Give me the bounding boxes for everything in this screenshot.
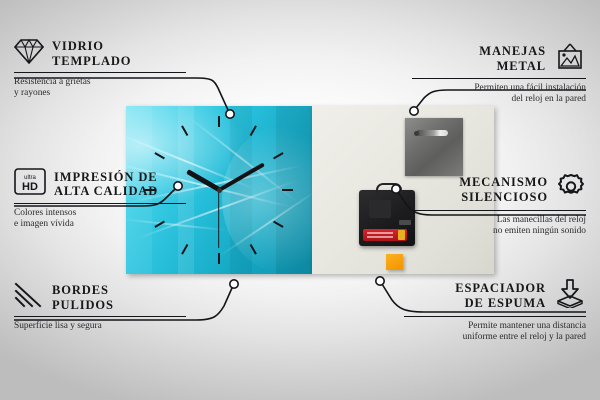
foam-spacer-piece (386, 254, 403, 270)
gear-icon (556, 172, 586, 207)
callout-title-line2: DE ESPUMA (455, 296, 546, 311)
callout-title-line1: MANEJAS (479, 44, 546, 59)
callout-desc-line1: Superficie lisa y segura (14, 321, 186, 332)
callout-polished-edges: BORDES PULIDOS Superficie lisa y segura (14, 282, 186, 332)
callout-foam-spacer: ESPACIADOR DE ESPUMA Permite mantener un… (404, 278, 586, 344)
callout-rule (412, 78, 586, 79)
callout-metal-handles: MANEJAS METAL Permiten una fácil instala… (412, 42, 586, 106)
quartz-mechanism (359, 190, 415, 246)
callout-desc-line2: y rayones (14, 88, 186, 99)
callout-desc-line1: Las manecillas del reloj (412, 215, 586, 226)
callout-desc-line1: Colores intensos (14, 208, 186, 219)
callout-title-line1: VIDRIO (52, 39, 131, 54)
diamond-icon (14, 38, 44, 69)
callout-rule (412, 210, 586, 211)
callout-rule (14, 72, 186, 73)
callout-desc-line2: del reloj en la pared (412, 94, 586, 105)
callout-title-line1: IMPRESIÓN DE (54, 170, 158, 185)
callout-desc-line2: e imagen vívida (14, 219, 186, 230)
callout-desc-line1: Resistencia a grietas (14, 77, 186, 88)
battery-terminal (398, 230, 405, 240)
callout-title-line1: ESPACIADOR (455, 281, 546, 296)
ultra-hd-badge-icon: ultra HD (14, 168, 46, 200)
second-hand (218, 190, 219, 248)
callout-desc-line1: Permite mantener una distancia (404, 321, 586, 332)
hanger-hole (414, 131, 419, 136)
hour-hand (186, 170, 220, 192)
svg-text:HD: HD (22, 181, 38, 193)
infographic-canvas: VIDRIO TEMPLADO Resistencia a grietas y … (0, 0, 600, 400)
mechanism-dial (369, 200, 391, 218)
arrow-onto-foam-icon (554, 278, 586, 313)
minute-hand (218, 162, 265, 191)
metal-hanger-plate (405, 118, 463, 176)
mechanism-hook (376, 183, 402, 196)
callout-title-line2: METAL (479, 59, 546, 74)
callout-silent-mechanism: MECANISMO SILENCIOSO Las manecillas del … (412, 172, 586, 238)
callout-rule (14, 203, 186, 204)
picture-frame-icon (554, 42, 586, 75)
hanger-slot (416, 130, 448, 136)
callout-rule (404, 316, 586, 317)
diagonal-lines-icon (14, 282, 44, 313)
callout-desc-line1: Permiten una fácil instalación (412, 83, 586, 94)
callout-title-line2: PULIDOS (52, 298, 114, 313)
callout-desc-line2: no emiten ningún sonido (412, 226, 586, 237)
aa-battery (363, 229, 407, 241)
callout-title-line1: BORDES (52, 283, 114, 298)
mechanism-chip (399, 220, 411, 225)
callout-title-line2: ALTA CALIDAD (54, 184, 158, 199)
callout-title-line2: TEMPLADO (52, 54, 131, 69)
callout-hd-print: ultra HD IMPRESIÓN DE ALTA CALIDAD Color… (14, 168, 186, 231)
callout-title-line1: MECANISMO (459, 175, 548, 190)
callout-desc-line2: uniforme entre el reloj y la pared (404, 332, 586, 343)
clock-hub (217, 188, 222, 193)
callout-tempered-glass: VIDRIO TEMPLADO Resistencia a grietas y … (14, 38, 186, 100)
callout-title-line2: SILENCIOSO (459, 190, 548, 205)
callout-rule (14, 316, 186, 317)
